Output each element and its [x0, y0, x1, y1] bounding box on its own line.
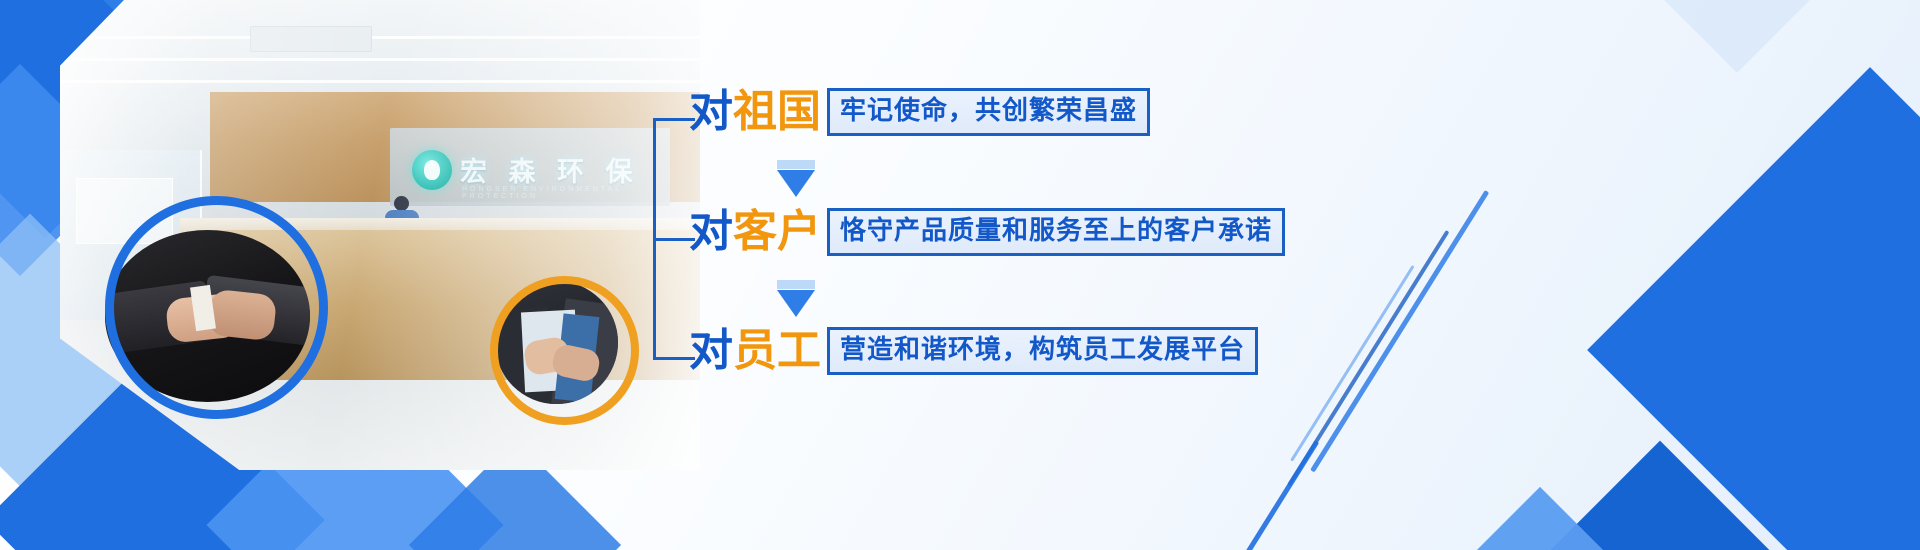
lead-subject: 祖国 [733, 87, 821, 136]
decor-diamond-bottom-right-1 [1526, 441, 1795, 550]
value-chip-customer: 恪守产品质量和服务至上的客户承诺 [827, 208, 1285, 256]
orange-ring-frame [490, 276, 639, 425]
value-lead-customer: 对客户 [689, 210, 821, 254]
lead-prefix: 对 [689, 326, 733, 375]
value-lead-country: 对祖国 [689, 90, 821, 134]
value-row-country: 对祖国 牢记使命，共创繁荣昌盛 [689, 88, 1150, 136]
corporate-values-banner: 宏 森 环 保 HONGSEN ENVIRONMENTAL PROTECTION [0, 0, 1920, 550]
lead-subject: 员工 [733, 326, 821, 375]
chevron-triangle [777, 170, 815, 197]
values-list: 对祖国 牢记使命，共创繁荣昌盛 对客户 恪守产品质量和服务至上的客户承诺 对员工… [645, 0, 1405, 550]
value-lead-employee: 对员工 [689, 329, 821, 373]
lead-subject: 客户 [733, 207, 821, 256]
decor-diamond-top-right-pale [1659, 0, 1815, 73]
value-row-customer: 对客户 恪守产品质量和服务至上的客户承诺 [689, 208, 1285, 256]
lead-prefix: 对 [689, 207, 733, 256]
lead-prefix: 对 [689, 87, 733, 136]
chevron-bar [777, 160, 815, 169]
decor-diamond-bottom-right-2 [1427, 487, 1653, 550]
value-chip-employee: 营造和谐环境，构筑员工发展平台 [827, 327, 1258, 375]
chevron-triangle [777, 290, 815, 317]
value-chip-country: 牢记使命，共创繁荣昌盛 [827, 88, 1150, 136]
chevron-bar [777, 280, 815, 289]
decor-diamond-right-large [1587, 67, 1920, 550]
chevron-down-icon [777, 280, 815, 317]
value-row-employee: 对员工 营造和谐环境，构筑员工发展平台 [689, 327, 1258, 375]
chevron-down-icon [777, 160, 815, 197]
blue-ring-frame [105, 196, 328, 419]
